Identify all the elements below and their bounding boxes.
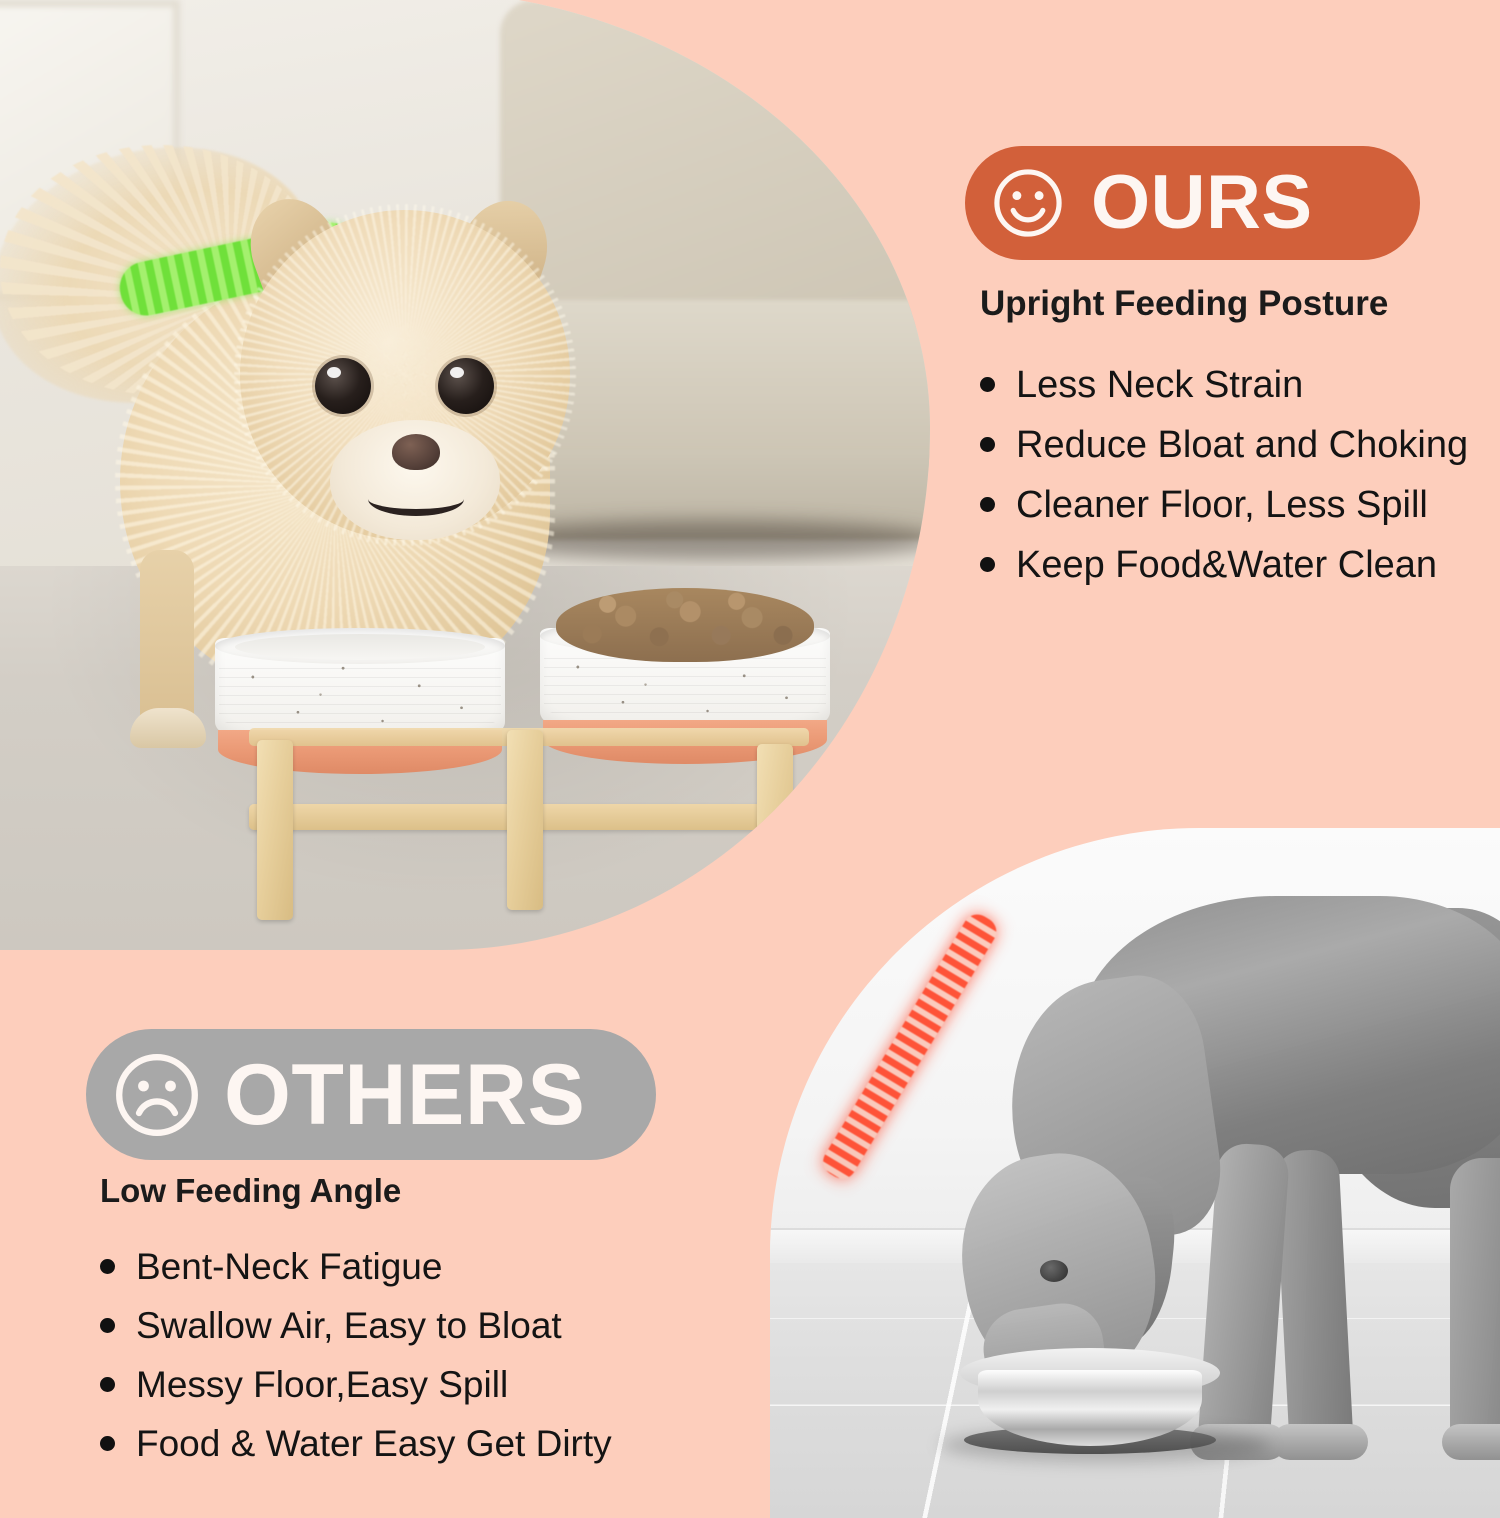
bullet-icon [980,377,995,392]
ours-badge: OURS [965,146,1420,260]
elevated-double-bowl-set [215,602,835,922]
list-item: Keep Food&Water Clean [980,544,1480,587]
bullet-icon [100,1377,115,1392]
others-drawbacks-block: Low Feeding Angle Bent-Neck Fatigue Swal… [100,1172,660,1482]
infographic-canvas: OURS Upright Feeding Posture Less Neck S… [0,0,1500,1500]
bullet-icon [100,1318,115,1333]
bullet-icon [980,497,995,512]
bamboo-stand [235,730,825,920]
list-item-label: Messy Floor,Easy Spill [136,1364,508,1406]
others-subheading: Low Feeding Angle [100,1172,660,1210]
ours-subheading: Upright Feeding Posture [980,284,1480,324]
stainless-steel-floor-bowl [960,1348,1220,1458]
others-badge: OTHERS [86,1029,656,1160]
list-item: Food & Water Easy Get Dirty [100,1423,660,1465]
list-item: Reduce Bloat and Choking [980,424,1480,467]
list-item-label: Less Neck Strain [1016,364,1303,407]
sad-face-icon [112,1050,202,1140]
others-badge-label: OTHERS [224,1052,585,1138]
list-item: Cleaner Floor, Less Spill [980,484,1480,527]
bullet-icon [100,1259,115,1274]
list-item-label: Reduce Bloat and Choking [1016,424,1468,467]
list-item: Less Neck Strain [980,364,1480,407]
list-item: Bent-Neck Fatigue [100,1246,660,1288]
ours-benefit-list: Less Neck Strain Reduce Bloat and Chokin… [980,364,1480,587]
list-item-label: Keep Food&Water Clean [1016,544,1437,587]
ours-benefits-block: Upright Feeding Posture Less Neck Strain… [980,284,1480,604]
list-item-label: Swallow Air, Easy to Bloat [136,1305,562,1347]
bullet-icon [980,557,995,572]
ours-product-photo [0,0,930,950]
bullet-icon [980,437,995,452]
list-item: Swallow Air, Easy to Bloat [100,1305,660,1347]
ours-badge-label: OURS [1091,165,1313,241]
list-item-label: Cleaner Floor, Less Spill [1016,484,1428,527]
list-item-label: Food & Water Easy Get Dirty [136,1423,612,1465]
others-drawback-list: Bent-Neck Fatigue Swallow Air, Easy to B… [100,1246,660,1465]
smiley-face-icon [991,166,1065,240]
kibble-food [556,588,814,662]
list-item: Messy Floor,Easy Spill [100,1364,660,1406]
bullet-icon [100,1436,115,1451]
others-problem-photo [770,828,1500,1518]
list-item-label: Bent-Neck Fatigue [136,1246,442,1288]
